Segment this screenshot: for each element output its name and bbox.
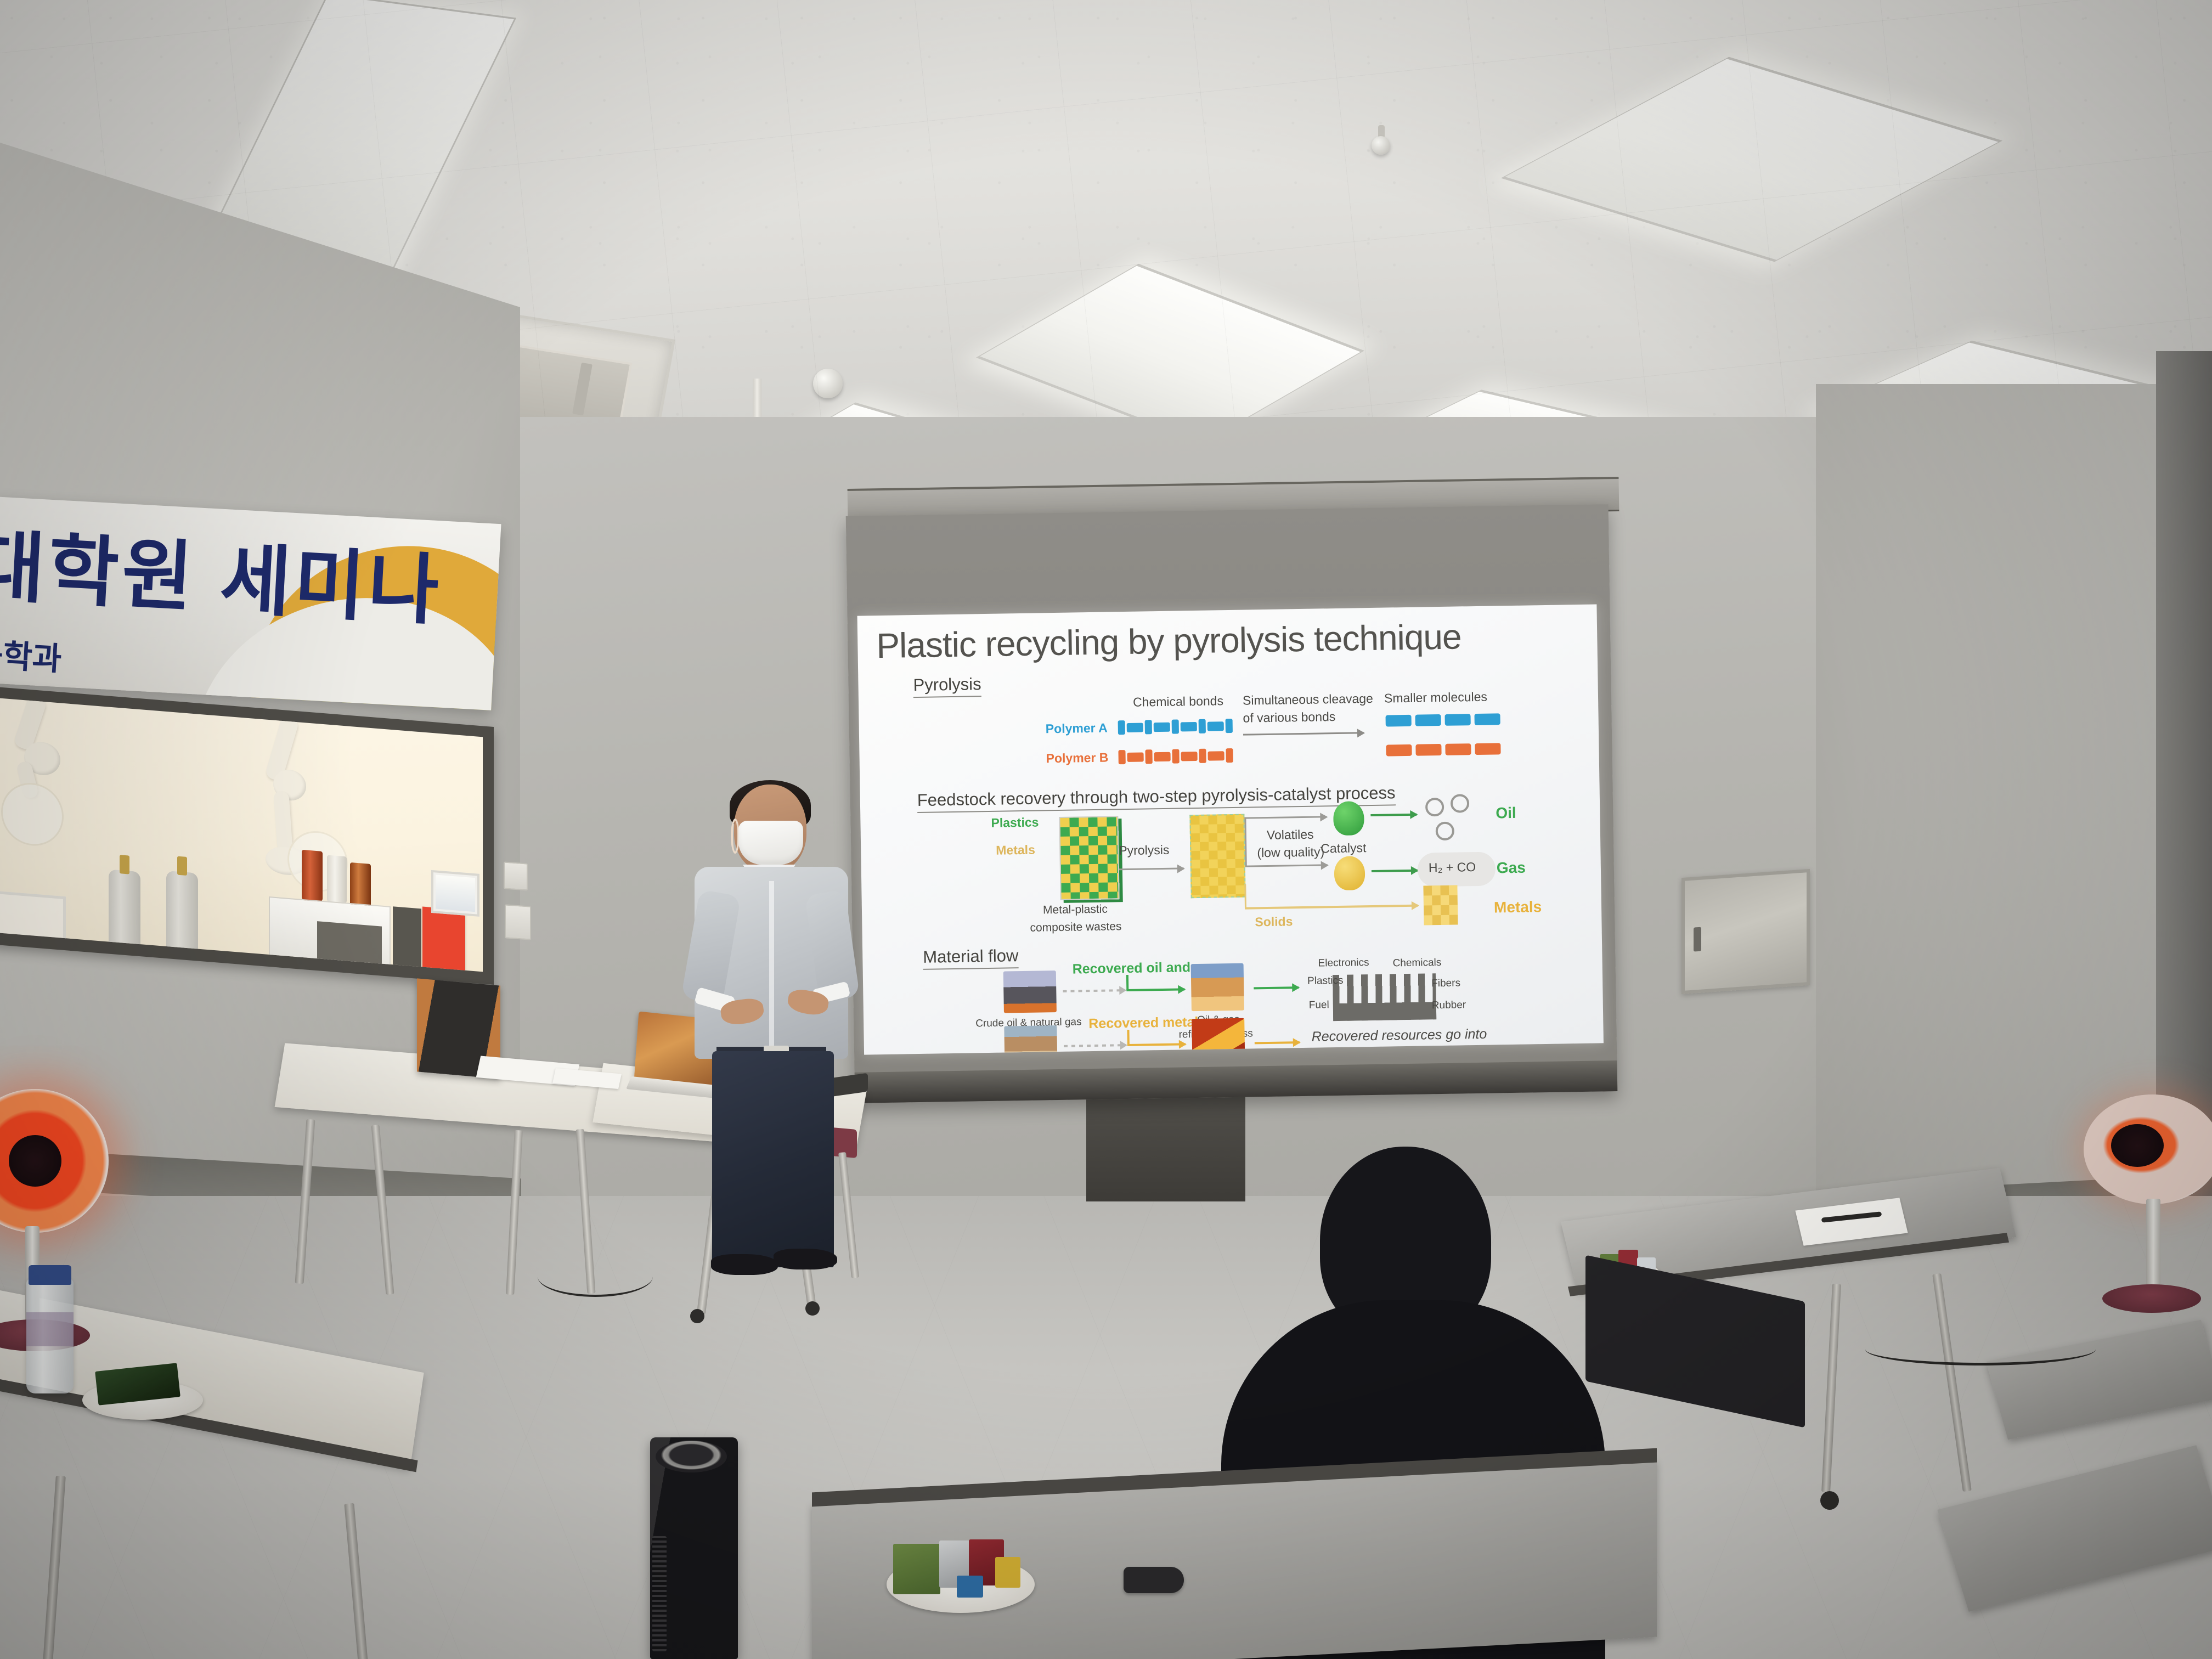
cylinder-regulator	[177, 856, 187, 876]
slide-section-heading-feedstock: Feedstock recovery through two-step pyro…	[917, 783, 1396, 813]
sprinkler-stem	[1378, 125, 1385, 138]
monitor-screen	[436, 874, 475, 912]
air-purifier-tower[interactable]	[650, 1437, 738, 1659]
oil-gas-refinery-photo	[1191, 963, 1244, 1011]
floor-cable-loop	[538, 1256, 653, 1297]
pyrolyzed-residue-cube	[1189, 814, 1245, 899]
water-bottle-cap[interactable]	[29, 1265, 71, 1285]
refinery-to-products-arrow	[1254, 986, 1299, 989]
label-rubber: Rubber	[1432, 999, 1466, 1012]
purifier-intake-grille	[652, 1536, 667, 1651]
label-volatiles-line2: (low quality)	[1257, 844, 1324, 860]
polymer-b-fragments	[1386, 743, 1500, 756]
cylinder-regulator	[120, 855, 129, 874]
label-chemicals: Chemicals	[1392, 957, 1441, 969]
label-fuel: Fuel	[1309, 999, 1329, 1012]
snack-wrapper	[957, 1576, 983, 1598]
seminar-banner: 대학원 세미나 공학과	[0, 496, 501, 710]
ac-vent-slot	[572, 363, 592, 415]
label-metals-output: Metals	[1494, 898, 1542, 916]
lab-interior	[0, 698, 483, 972]
metal-refinery-photo	[1192, 1018, 1245, 1055]
label-plastics-input: Plastics	[991, 815, 1039, 831]
label-closing-line1: Recovered resources go into	[1311, 1026, 1487, 1045]
sprinkler-head	[1372, 136, 1390, 155]
solids-bracket	[1244, 884, 1246, 909]
recovered-metals-icon	[1423, 885, 1458, 926]
pyrolysis-step-arrow	[1119, 867, 1184, 870]
label-oil-output: Oil	[1496, 804, 1516, 822]
label-solids: Solids	[1255, 914, 1293, 929]
amber-reagent-bottle	[350, 862, 371, 908]
label-metals-input: Metals	[996, 843, 1035, 858]
ceiling-light-panel	[1501, 57, 2002, 262]
snack-wrapper	[893, 1544, 940, 1594]
metal-to-society-arrow	[1255, 1041, 1300, 1044]
label-fibers: Fibers	[1431, 977, 1460, 990]
label-volatiles-line1: Volatiles	[1267, 827, 1314, 843]
slide-section-heading-pyrolysis: Pyrolysis	[913, 674, 981, 698]
catalyst-gold-cluster	[1334, 856, 1365, 890]
projected-slide: Plastic recycling by pyrolysis technique…	[857, 605, 1604, 1055]
presenter-shoe	[711, 1254, 778, 1275]
purifier-control-dial[interactable]	[656, 1441, 727, 1472]
car-key-fob[interactable]	[1124, 1567, 1184, 1593]
recovered-oil-elbow	[1126, 975, 1128, 990]
gas-cylinder	[166, 871, 198, 972]
volatiles-bracket	[1244, 817, 1246, 867]
natural-ore-photo	[1004, 1025, 1057, 1055]
label-recovered-metals: Recovered metals	[1088, 1014, 1206, 1032]
amber-reagent-bottle	[302, 850, 323, 902]
label-cleavage-line1: Simultaneous cleavage	[1243, 691, 1373, 708]
heater-element-core	[9, 1135, 61, 1187]
light-switch-plate[interactable]	[505, 904, 531, 940]
slide-title: Plastic recycling by pyrolysis technique	[876, 616, 1462, 666]
gas-output-arrow	[1372, 870, 1418, 872]
solids-arrow	[1245, 905, 1418, 910]
label-closing-line2: circulation in our society	[1324, 1045, 1470, 1054]
label-cleavage-line2: of various bonds	[1243, 709, 1335, 726]
safety-sign	[422, 907, 465, 972]
volatiles-arrow-top	[1244, 816, 1327, 819]
aromatic-molecule-icon	[1451, 794, 1470, 813]
polymer-b-chain	[1118, 748, 1233, 764]
label-h2-co: H₂ + CO	[1429, 860, 1476, 875]
seminar-room-photo: 대학원 세미나 공학과	[0, 0, 2212, 1659]
heater-base	[2102, 1284, 2201, 1313]
water-bottle-label	[26, 1312, 74, 1346]
label-waste-line2: composite wastes	[1030, 920, 1121, 935]
recovered-oil-arrow	[1126, 988, 1184, 991]
crude-dotted-arrow	[1063, 989, 1120, 992]
label-polymer-b: Polymer B	[1046, 751, 1108, 766]
lab-monitor	[431, 870, 479, 917]
fume-hood-bell	[1, 781, 64, 848]
radiant-heater-right[interactable]	[2079, 1094, 2212, 1402]
volatiles-arrow-bottom	[1245, 864, 1328, 867]
products-skyline-icon	[1333, 973, 1436, 1021]
instrument-window	[317, 921, 382, 972]
aromatic-molecule-icon	[1425, 798, 1444, 817]
recovered-metals-arrow	[1127, 1043, 1186, 1046]
smoke-detector	[813, 369, 843, 398]
table-caster	[1820, 1491, 1839, 1510]
metal-plastic-waste-cube	[1059, 816, 1119, 900]
label-chemical-bonds: Chemical bonds	[1133, 693, 1223, 710]
slide-section-heading-material-flow: Material flow	[923, 946, 1019, 970]
face-mask	[738, 821, 803, 865]
access-panel-handle[interactable]	[1694, 927, 1701, 952]
recovered-metals-elbow	[1127, 1030, 1129, 1045]
presenter-shoe	[774, 1249, 837, 1269]
table-caster	[805, 1301, 820, 1316]
projector-screen: Plastic recycling by pyrolysis technique…	[846, 504, 1618, 1103]
table-caster	[690, 1309, 704, 1323]
label-catalyst: Catalyst	[1321, 840, 1367, 856]
presenter	[681, 785, 862, 1267]
label-gas-output: Gas	[1497, 859, 1526, 877]
catalyst-green-cluster	[1333, 801, 1364, 836]
oil-output-arrow	[1370, 814, 1417, 816]
ore-dotted-arrow	[1064, 1044, 1121, 1047]
clear-reagent-bottle	[327, 855, 347, 904]
aromatic-molecule-icon	[1436, 822, 1455, 841]
wall-access-panel[interactable]	[1681, 869, 1810, 994]
heater-power-cord	[1865, 1333, 2096, 1365]
cleavage-arrow	[1243, 732, 1364, 735]
label-polymer-a: Polymer A	[1046, 721, 1108, 737]
power-outlet-plate[interactable]	[504, 861, 528, 890]
label-pyrolysis-step: Pyrolysis	[1119, 843, 1169, 858]
crude-oil-photo	[1003, 970, 1057, 1013]
polymer-a-fragments	[1385, 713, 1500, 726]
snack-wrapper	[995, 1557, 1020, 1588]
presenter-trousers	[712, 1051, 834, 1267]
lab-observation-window	[0, 686, 494, 985]
shirt-placket	[769, 881, 774, 1056]
heater-element-core	[2111, 1124, 2164, 1167]
polymer-a-chain	[1118, 719, 1233, 735]
label-plastics-product: Plastics	[1307, 975, 1344, 988]
label-electronics: Electronics	[1318, 957, 1369, 969]
banner-title: 대학원 세미나	[0, 528, 426, 629]
banner-subtitle: 공학과	[0, 629, 63, 680]
label-waste-line1: Metal-plastic	[1043, 903, 1108, 917]
instrument-stack	[393, 906, 421, 972]
label-smaller-molecules: Smaller molecules	[1384, 690, 1487, 706]
heater-pole	[2146, 1199, 2160, 1297]
